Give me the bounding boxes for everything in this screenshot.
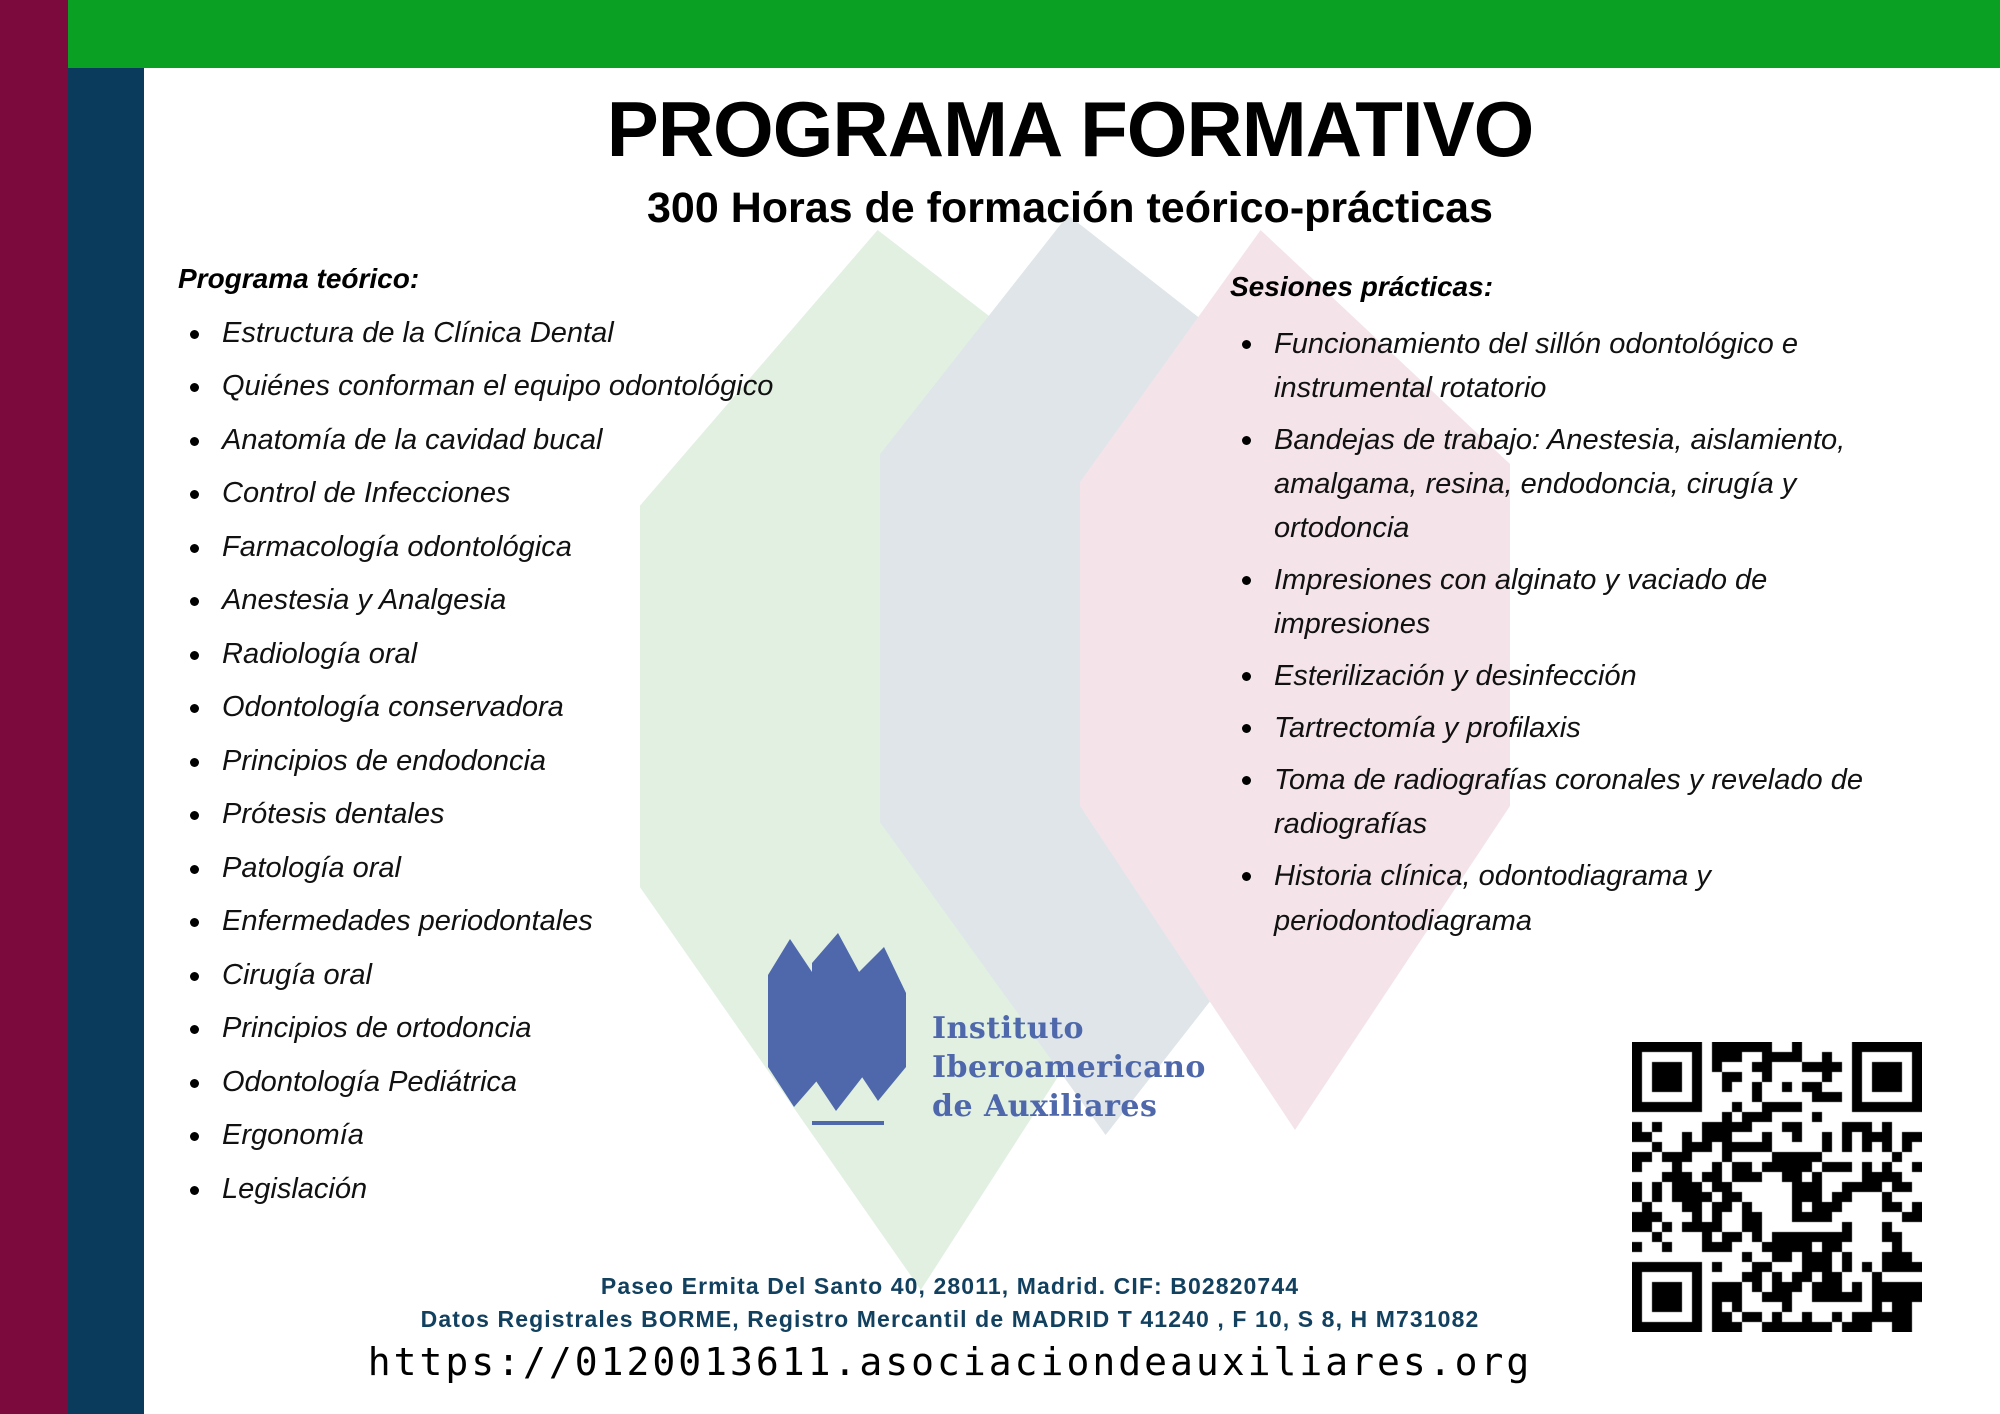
navy-accent-bar (68, 68, 144, 1414)
theory-list-item: Farmacología odontológica (178, 526, 778, 570)
footer-legal-text: Paseo Ermita Del Santo 40, 28011, Madrid… (170, 1270, 1730, 1337)
organization-logo: Instituto Iberoamericano de Auxiliares (760, 925, 1240, 1155)
footer-registry: Datos Registrales BORME, Registro Mercan… (170, 1303, 1730, 1336)
theory-list-item: Odontología Pediátrica (178, 1061, 778, 1105)
green-accent-bar (68, 0, 2000, 68)
practice-list-item: Funcionamiento del sillón odontológico e… (1230, 322, 1870, 410)
theory-list-item: Radiología oral (178, 633, 778, 677)
footer-address: Paseo Ermita Del Santo 40, 28011, Madrid… (170, 1270, 1730, 1303)
footer-url[interactable]: https://0120013611.asociaciondeauxiliare… (170, 1340, 1730, 1384)
page-title: PROGRAMA FORMATIVO (170, 90, 1970, 168)
theory-list-item: Principios de ortodoncia (178, 1007, 778, 1051)
practice-list: Funcionamiento del sillón odontológico e… (1230, 322, 1870, 943)
theory-list-item: Prótesis dentales (178, 793, 778, 837)
practice-list-item: Bandejas de trabajo: Anestesia, aislamie… (1230, 418, 1870, 550)
practice-list-item: Tartrectomía y profilaxis (1230, 706, 1870, 750)
logo-wordmark: Instituto Iberoamericano de Auxiliares (932, 1009, 1206, 1126)
practice-heading: Sesiones prácticas: (1230, 270, 1870, 304)
practice-list-item: Impresiones con alginato y vaciado de im… (1230, 558, 1870, 646)
theory-list-item: Principios de endodoncia (178, 740, 778, 784)
theory-list-item: Odontología conservadora (178, 686, 778, 730)
maroon-accent-bar (0, 0, 68, 1414)
practice-column: Sesiones prácticas: Funcionamiento del s… (1230, 270, 1870, 951)
practice-list-item: Toma de radiografías coronales y revelad… (1230, 758, 1870, 846)
theory-list-item: Anatomía de la cavidad bucal (178, 419, 778, 463)
theory-list-item: Legislación (178, 1168, 778, 1212)
theory-column: Programa teórico: Estructura de la Clíni… (178, 262, 778, 1221)
theory-list-item: Ergonomía (178, 1114, 778, 1158)
practice-list-item: Esterilización y desinfección (1230, 654, 1870, 698)
practice-list-item: Historia clínica, odontodiagrama y perio… (1230, 854, 1870, 942)
theory-list: Estructura de la Clínica DentalQuiénes c… (178, 312, 778, 1212)
flame-logo-icon (760, 925, 930, 1130)
theory-list-item: Quiénes conforman el equipo odontológico (178, 365, 778, 409)
theory-heading: Programa teórico: (178, 262, 778, 296)
page-subtitle: 300 Horas de formación teórico-prácticas (170, 185, 1970, 232)
logo-line-2: Iberoamericano (932, 1048, 1206, 1087)
theory-list-item: Enfermedades periodontales (178, 900, 778, 944)
theory-list-item: Cirugía oral (178, 954, 778, 998)
theory-list-item: Patología oral (178, 847, 778, 891)
theory-list-item: Control de Infecciones (178, 472, 778, 516)
logo-line-1: Instituto (932, 1009, 1206, 1048)
logo-line-3: de Auxiliares (932, 1087, 1206, 1126)
theory-list-item: Estructura de la Clínica Dental (178, 312, 778, 356)
theory-list-item: Anestesia y Analgesia (178, 579, 778, 623)
poster-page: PROGRAMA FORMATIVO 300 Horas de formació… (0, 0, 2000, 1414)
